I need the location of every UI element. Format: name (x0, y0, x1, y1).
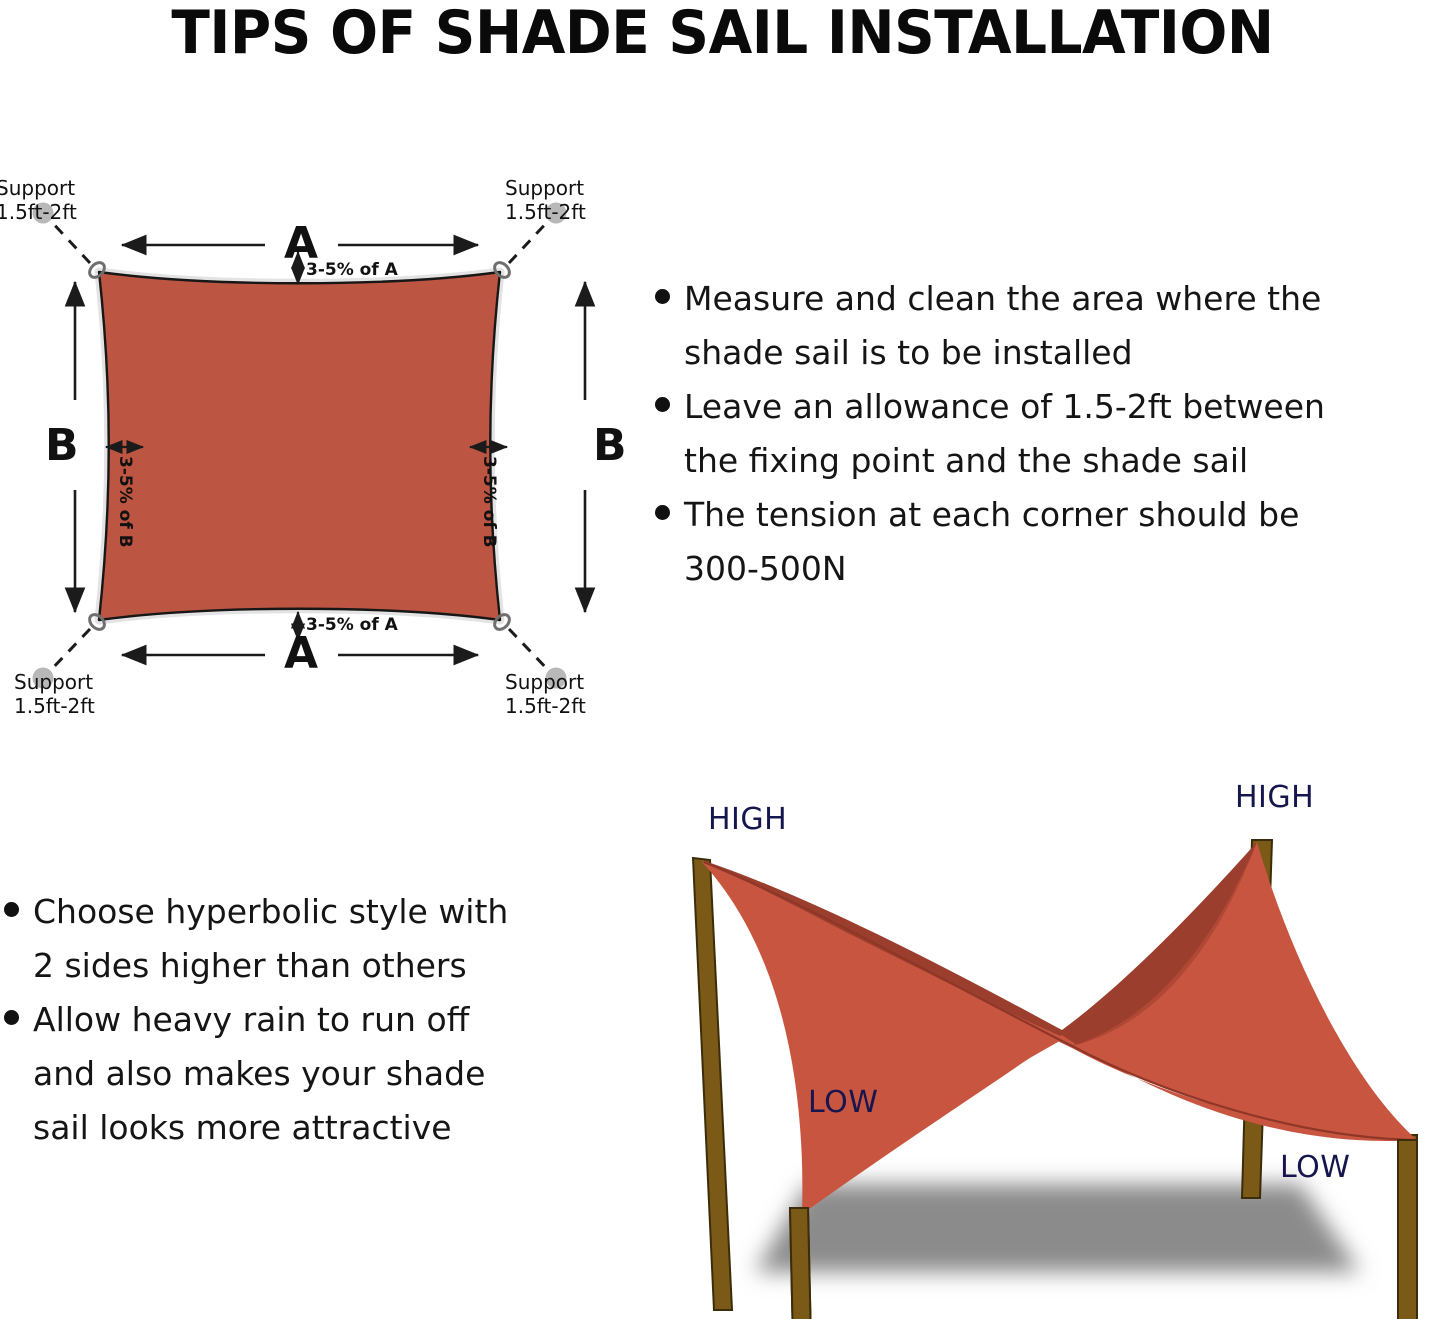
list-item-text: The tension at each corner should be 300… (684, 488, 1299, 596)
dimension-label-b-right: B (593, 424, 627, 468)
rectangular-shade-sail-dimension-diagram: Support 1.5ft-2ft Support 1.5ft-2ft Supp… (0, 160, 660, 740)
sail-lower-left-wing (702, 862, 1065, 1214)
label-low-left: LOW (808, 1085, 878, 1120)
support-label-line1: Support (505, 176, 584, 200)
support-label-line2: 1.5ft-2ft (505, 200, 586, 224)
post-back-left (693, 858, 732, 1310)
list-item: Leave an allowance of 1.5-2ft between th… (655, 380, 1445, 488)
post-front-right-overlay (1398, 1140, 1417, 1319)
list-item-line: Allow heavy rain to run off (33, 1000, 469, 1039)
curve-callout-top: 3-5% of A (306, 260, 398, 280)
curve-callout-right: 3-5% of B (479, 456, 499, 548)
list-item: Choose hyperbolic style with 2 sides hig… (4, 885, 634, 993)
support-label-line1: Support (0, 176, 75, 200)
support-label-top-right: Support 1.5ft-2ft (505, 176, 635, 224)
bullet-dot-icon (655, 397, 670, 412)
bullet-dot-icon (4, 1010, 19, 1025)
support-label-bottom-right: Support 1.5ft-2ft (505, 670, 635, 718)
support-label-line2: 1.5ft-2ft (505, 694, 586, 718)
support-label-top-left: Support 1.5ft-2ft (0, 176, 116, 224)
bullet-dot-icon (655, 289, 670, 304)
list-item-line: sail looks more attractive (33, 1108, 452, 1147)
support-label-line1: Support (505, 670, 584, 694)
list-item-line: shade sail is to be installed (684, 333, 1133, 372)
page-title: TIPS OF SHADE SAIL INSTALLATION (43, 2, 1401, 64)
list-item-line: The tension at each corner should be (684, 495, 1299, 534)
list-item: Allow heavy rain to run off and also mak… (4, 993, 634, 1155)
tips-list-right: Measure and clean the area where the sha… (655, 272, 1445, 596)
list-item-line: Choose hyperbolic style with (33, 892, 508, 931)
support-label-line1: Support (14, 670, 93, 694)
hyperbolic-shade-sail-3d-illustration: HIGH HIGH LOW LOW (660, 780, 1445, 1319)
bullet-dot-icon (655, 505, 670, 520)
list-item-text: Choose hyperbolic style with 2 sides hig… (33, 885, 508, 993)
support-label-bottom-left: Support 1.5ft-2ft (14, 670, 144, 718)
list-item-line: Leave an allowance of 1.5-2ft between (684, 387, 1325, 426)
tips-list-left: Choose hyperbolic style with 2 sides hig… (4, 885, 634, 1155)
list-item: Measure and clean the area where the sha… (655, 272, 1445, 380)
post-front-left-overlay (790, 1208, 812, 1319)
support-label-line2: 1.5ft-2ft (14, 694, 95, 718)
list-item-line: the fixing point and the shade sail (684, 441, 1248, 480)
list-item: The tension at each corner should be 300… (655, 488, 1445, 596)
shade-sail-shape (99, 272, 500, 620)
list-item-text: Leave an allowance of 1.5-2ft between th… (684, 380, 1325, 488)
list-item-line: and also makes your shade (33, 1054, 485, 1093)
ground-shadow (755, 1184, 1360, 1272)
list-item-line: 300-500N (684, 549, 847, 588)
list-item-text: Measure and clean the area where the sha… (684, 272, 1321, 380)
list-item-text: Allow heavy rain to run off and also mak… (33, 993, 485, 1155)
list-item-line: Measure and clean the area where the (684, 279, 1321, 318)
label-high-left: HIGH (708, 802, 787, 837)
curve-callout-left: 3-5% of B (115, 456, 135, 548)
label-high-right: HIGH (1235, 780, 1314, 815)
dimension-label-b-left: B (45, 424, 79, 468)
label-low-right: LOW (1280, 1150, 1350, 1185)
list-item-line: 2 sides higher than others (33, 946, 467, 985)
dimension-label-a-bottom: A (284, 632, 318, 676)
support-label-line2: 1.5ft-2ft (0, 200, 77, 224)
bullet-dot-icon (4, 902, 19, 917)
curve-callout-bottom: 3-5% of A (306, 615, 398, 635)
